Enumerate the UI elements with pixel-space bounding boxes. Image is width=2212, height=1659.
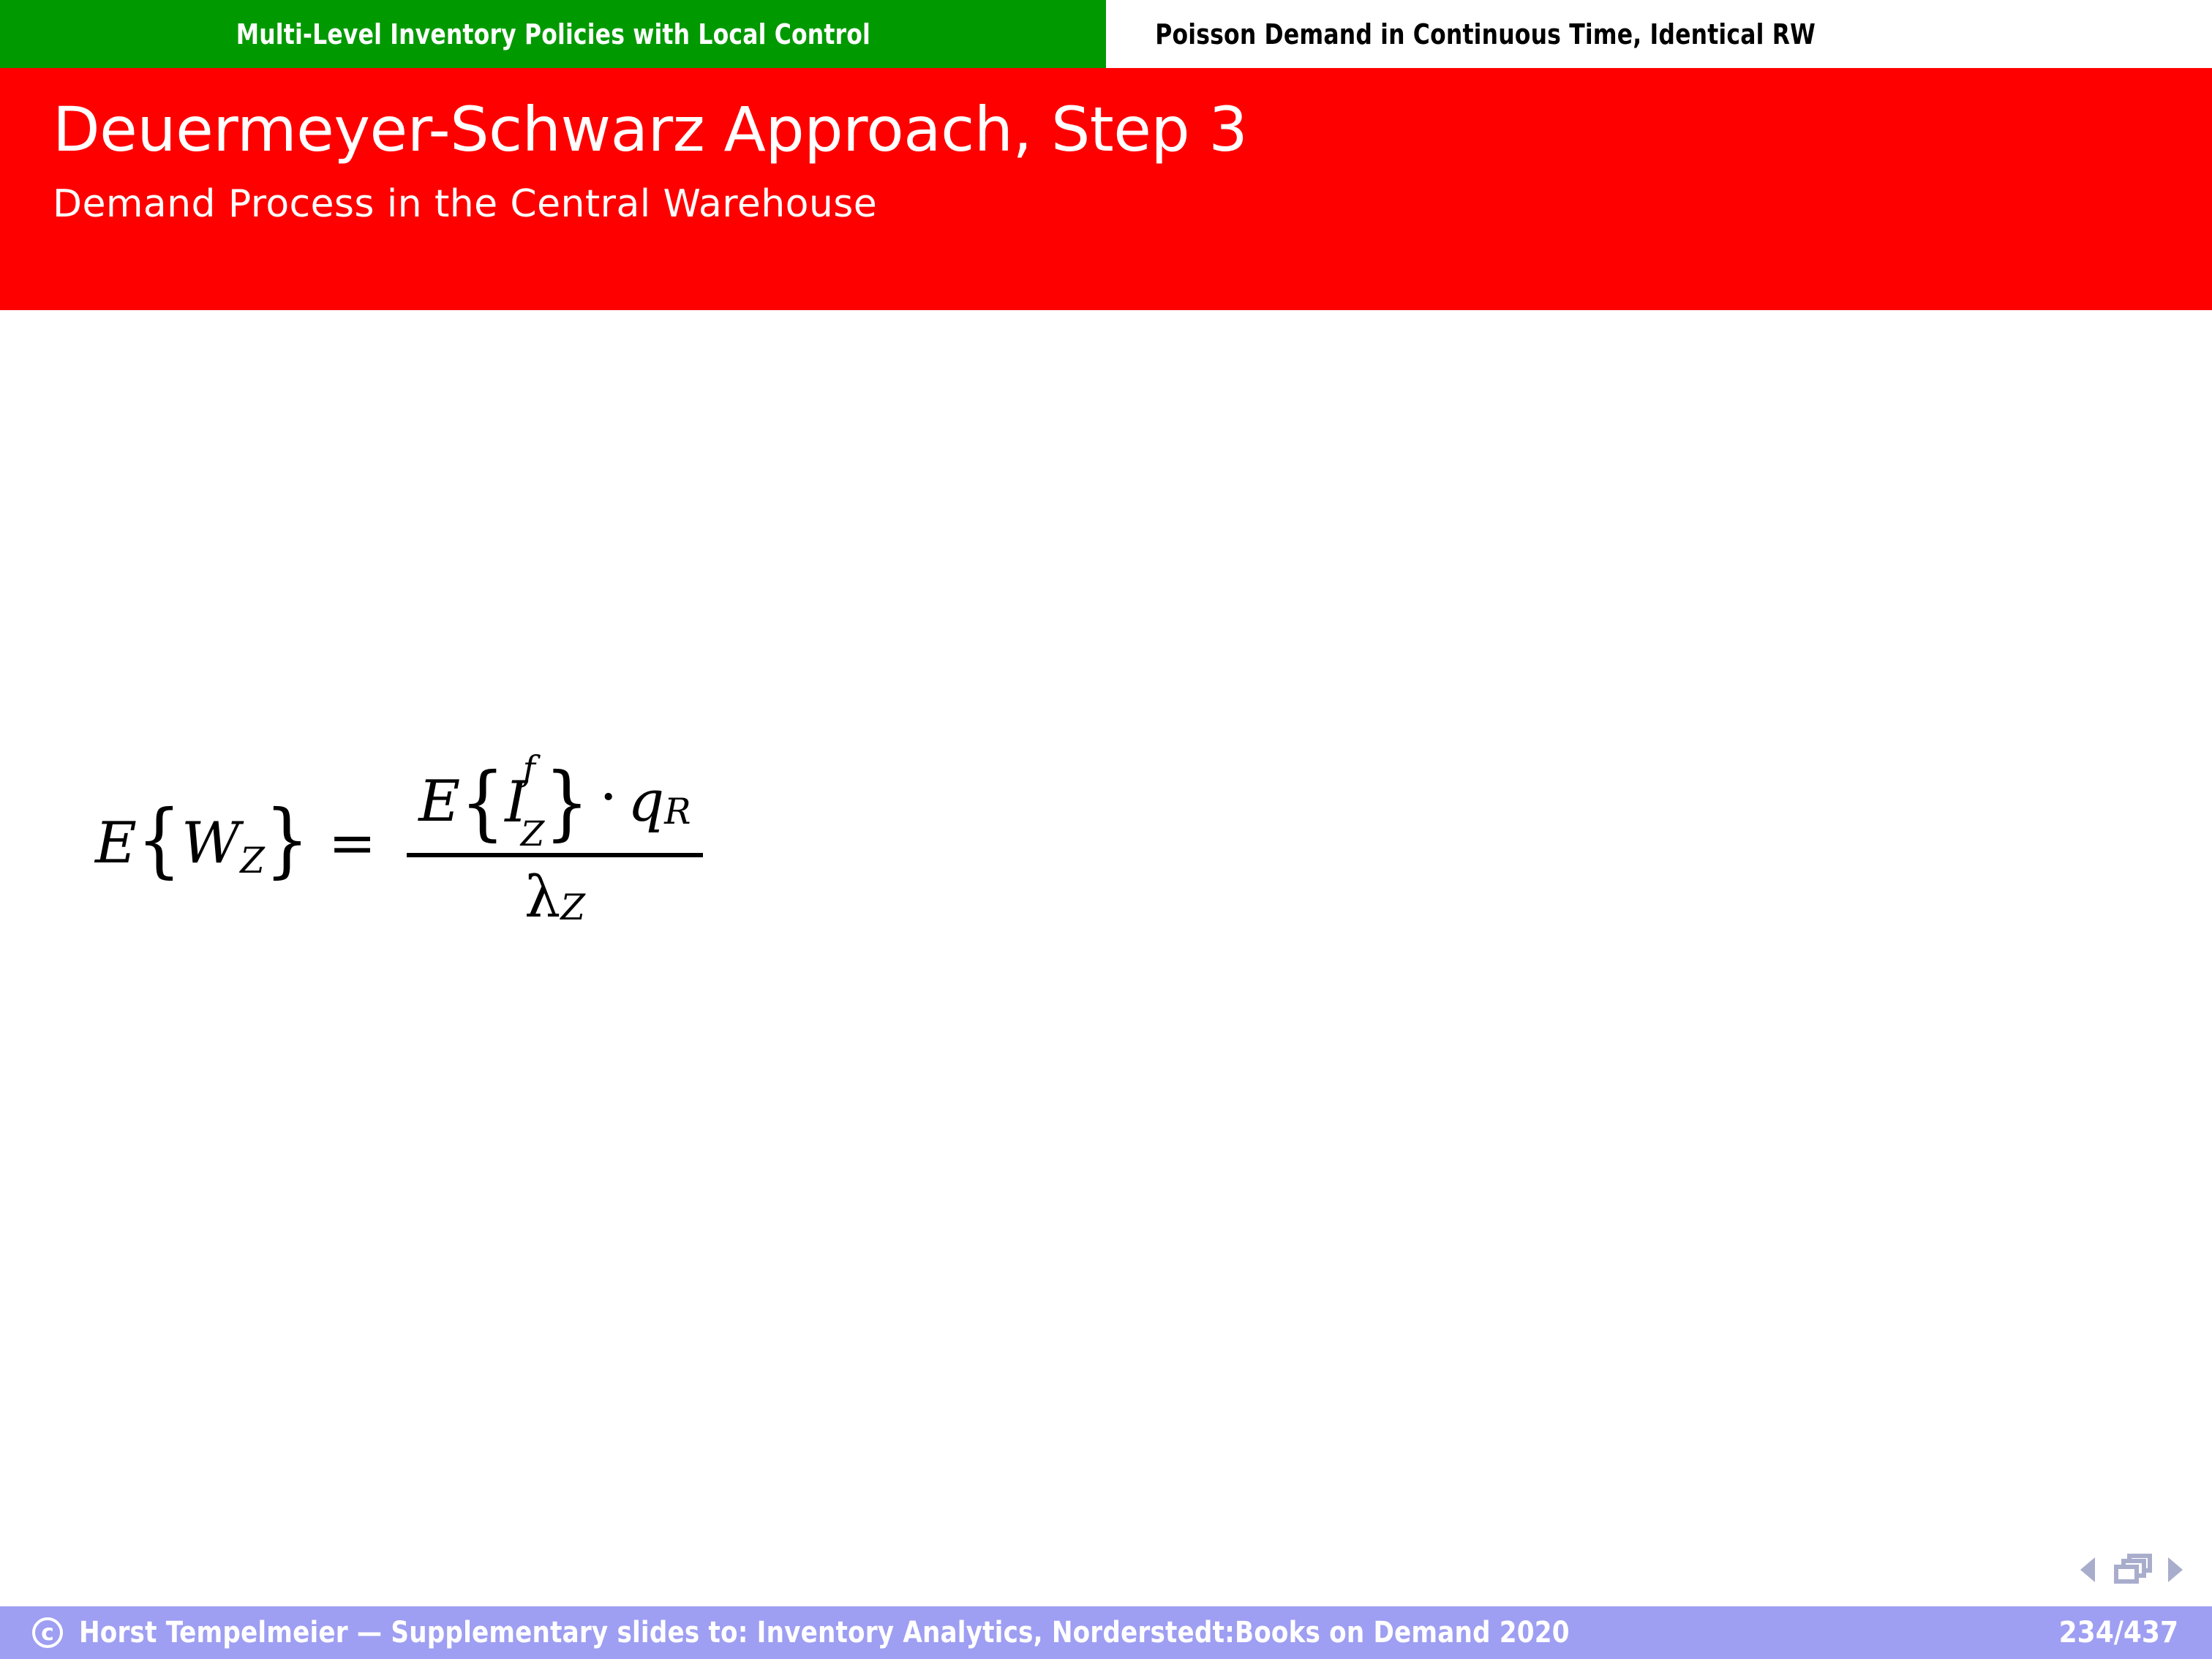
expectation-operator-lhs: E bbox=[95, 810, 137, 876]
open-brace-lhs: { bbox=[137, 808, 181, 872]
lambda-symbol: λ bbox=[524, 865, 560, 930]
expectation-operator-num: E bbox=[418, 769, 460, 835]
multiplication-dot: · bbox=[599, 764, 617, 830]
slide-footer: c Horst Tempelmeier — Supplementary slid… bbox=[0, 1606, 2212, 1659]
inventory-symbol-group: f I Z bbox=[505, 758, 544, 849]
section-tab[interactable]: Multi-Level Inventory Policies with Loca… bbox=[0, 0, 1106, 68]
subsection-tab[interactable]: Poisson Demand in Continuous Time, Ident… bbox=[1106, 0, 2212, 68]
fraction-numerator: E{ f I Z }·qR bbox=[407, 756, 702, 853]
fraction-denominator: λZ bbox=[513, 857, 597, 930]
subsection-label: Poisson Demand in Continuous Time, Ident… bbox=[1155, 18, 1816, 50]
subscript-r: R bbox=[664, 791, 691, 832]
slide-title-block: Deuermeyer-Schwarz Approach, Step 3 Dema… bbox=[0, 68, 2212, 310]
equation-lhs: E{WZ} bbox=[95, 810, 309, 876]
copyright-icon: c bbox=[32, 1617, 63, 1648]
slide-navigation-controls[interactable] bbox=[2036, 1551, 2183, 1589]
page-number: 234/437 bbox=[2059, 1616, 2178, 1649]
subscript-z-den: Z bbox=[560, 887, 585, 928]
slides-stack-icon[interactable] bbox=[2111, 1554, 2152, 1586]
variable-q: q bbox=[628, 769, 664, 835]
formula-block: E{WZ} = E{ f I Z }·qR λZ bbox=[95, 756, 703, 930]
open-brace-num: { bbox=[460, 771, 505, 835]
previous-slide-icon[interactable] bbox=[2080, 1557, 2095, 1582]
section-label: Multi-Level Inventory Policies with Loca… bbox=[236, 18, 870, 50]
page-subtitle: Demand Process in the Central Warehouse bbox=[53, 185, 2212, 223]
footer-credit-text: Horst Tempelmeier — Supplementary slides… bbox=[79, 1616, 1570, 1649]
fraction: E{ f I Z }·qR λZ bbox=[407, 756, 702, 930]
subscript-z-lhs: Z bbox=[240, 840, 265, 881]
variable-w: W bbox=[181, 810, 240, 876]
subscript-z-num: Z bbox=[521, 823, 545, 848]
navigation-header-bar: Multi-Level Inventory Policies with Loca… bbox=[0, 0, 2212, 68]
close-brace-num: } bbox=[544, 771, 589, 835]
slide-body: E{WZ} = E{ f I Z }·qR λZ bbox=[0, 310, 2212, 1606]
next-slide-icon[interactable] bbox=[2168, 1557, 2183, 1582]
slide-canvas: Multi-Level Inventory Policies with Loca… bbox=[0, 0, 2212, 1659]
display-equation: E{WZ} = E{ f I Z }·qR λZ bbox=[95, 756, 703, 930]
equals-sign: = bbox=[328, 810, 376, 876]
close-brace-lhs: } bbox=[265, 808, 309, 872]
footer-credit-group: c Horst Tempelmeier — Supplementary slid… bbox=[32, 1616, 2030, 1649]
page-title: Deuermeyer-Schwarz Approach, Step 3 bbox=[53, 99, 2212, 160]
